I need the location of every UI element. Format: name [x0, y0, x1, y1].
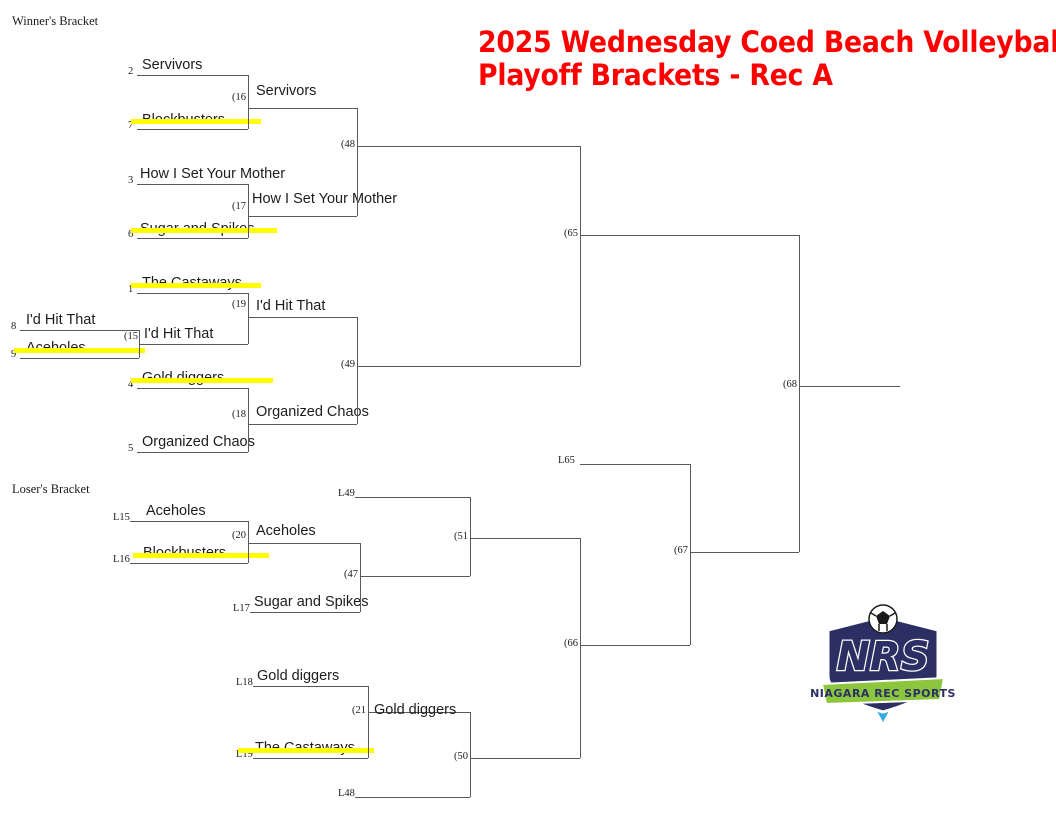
game-number-17: (17 — [214, 201, 246, 212]
highlight-the-castaways-r1 — [131, 283, 261, 288]
match-line-L18 — [253, 686, 368, 687]
connector-game-21 — [368, 686, 369, 758]
match-line-L16 — [130, 563, 248, 564]
connector-game-20 — [248, 521, 249, 563]
team-name-organized-chaos-r1: Organized Chaos — [142, 435, 255, 450]
feeder-code-L17: L17 — [233, 603, 250, 614]
match-line-seed-6 — [137, 238, 248, 239]
seed-number-5: 5 — [128, 443, 133, 454]
match-line-seed-2 — [137, 75, 248, 76]
connector-game-16 — [248, 75, 249, 129]
connector-game-67 — [690, 464, 691, 645]
team-name-id-hit-that-r1: I'd Hit That — [26, 313, 95, 328]
game-number-15: (15 — [106, 331, 138, 342]
advance-line-game-47 — [360, 576, 470, 577]
match-line-L15 — [130, 521, 248, 522]
feeder-code-L48: L48 — [338, 788, 355, 799]
game-number-48: (48 — [323, 139, 355, 150]
match-line-seed-3 — [137, 184, 248, 185]
advance-line-game-67 — [690, 552, 799, 553]
team-name-sugar-and-spikes-lb1: Sugar and Spikes — [254, 595, 368, 610]
feeder-code-L49: L49 — [338, 488, 355, 499]
logo-wordmark: NRS — [836, 634, 929, 680]
game-number-67: (67 — [656, 545, 688, 556]
feeder-code-L15: L15 — [113, 512, 130, 523]
game-number-21: (21 — [334, 705, 366, 716]
connector-game-51 — [470, 497, 471, 576]
advance-line-game-15 — [139, 344, 248, 345]
feeder-code-L16: L16 — [113, 554, 130, 565]
highlight-aceholes-r1 — [14, 348, 145, 353]
advance-line-game-51 — [470, 538, 580, 539]
losers-bracket-label: Loser's Bracket — [12, 482, 90, 497]
connector-game-66 — [580, 538, 581, 758]
match-line-seed-1 — [137, 293, 248, 294]
advance-line-game-16 — [248, 108, 357, 109]
nrs-logo-svg: NRS NIAGARA REC SPORTS — [808, 604, 958, 724]
match-line-L19 — [253, 758, 368, 759]
team-name-how-i-set-your-mother-r1: How I Set Your Mother — [140, 167, 285, 182]
game-number-18: (18 — [214, 409, 246, 420]
seed-number-3: 3 — [128, 175, 133, 186]
advance-line-game-20 — [248, 543, 360, 544]
connector-game-18 — [248, 388, 249, 452]
game-number-47: (47 — [326, 569, 358, 580]
match-line-seed-7 — [137, 129, 248, 130]
highlight-sugar-and-spikes-r1 — [131, 228, 277, 233]
team-name-aceholes-lb1: Aceholes — [146, 504, 206, 519]
connector-game-17 — [248, 184, 249, 238]
connector-game-19 — [248, 293, 249, 344]
highlight-gold-diggers-r1 — [131, 378, 273, 383]
champion-line-game-68 — [799, 386, 900, 387]
game-number-16: (16 — [214, 92, 246, 103]
advance-line-game-18 — [248, 424, 357, 425]
connector-game-49 — [357, 317, 358, 424]
feeder-code-L65: L65 — [558, 455, 575, 466]
nrs-logo: NRS NIAGARA REC SPORTS — [808, 604, 958, 724]
advance-line-game-17 — [248, 216, 357, 217]
game-number-68: (68 — [765, 379, 797, 390]
match-line-L48 — [355, 797, 470, 798]
game-number-19: (19 — [214, 299, 246, 310]
advance-line-game-50 — [470, 758, 580, 759]
match-line-seed-5 — [137, 452, 248, 453]
game-number-66: (66 — [546, 638, 578, 649]
game-number-65: (65 — [546, 228, 578, 239]
match-line-seed-9 — [20, 358, 139, 359]
match-line-L65 — [580, 464, 690, 465]
advance-line-game-19 — [248, 317, 357, 318]
team-name-id-hit-that-r2: I'd Hit That — [144, 327, 213, 342]
advance-line-game-48 — [357, 146, 580, 147]
match-line-L17 — [250, 612, 360, 613]
team-name-how-i-set-your-mother-r2: How I Set Your Mother — [252, 192, 397, 207]
feeder-code-L18: L18 — [236, 677, 253, 688]
advance-line-game-65 — [580, 235, 799, 236]
seed-number-2: 2 — [128, 66, 133, 77]
team-name-id-hit-that-r3: I'd Hit That — [256, 299, 325, 314]
logo-tagline: NIAGARA REC SPORTS — [810, 687, 956, 700]
bracket-page: 2025 Wednesday Coed Beach Volleyball Pla… — [0, 0, 1056, 816]
connector-game-68 — [799, 235, 800, 552]
team-name-gold-diggers-lb2: Gold diggers — [374, 703, 456, 718]
connector-game-50 — [470, 712, 471, 797]
game-number-50: (50 — [436, 751, 468, 762]
game-number-51: (51 — [436, 531, 468, 542]
game-number-49: (49 — [323, 359, 355, 370]
team-name-servivors-r1: Servivors — [142, 58, 202, 73]
winners-bracket-label: Winner's Bracket — [12, 14, 98, 29]
team-name-aceholes-lb2: Aceholes — [256, 524, 316, 539]
highlight-blockbusters-r1 — [131, 119, 261, 124]
connector-game-48 — [357, 108, 358, 216]
connector-game-65 — [580, 146, 581, 366]
page-title: 2025 Wednesday Coed Beach Volleyball Pla… — [478, 26, 1056, 92]
match-line-L49 — [355, 497, 470, 498]
team-name-servivors-r2: Servivors — [256, 84, 316, 99]
advance-line-game-66 — [580, 645, 690, 646]
team-name-gold-diggers-lb1: Gold diggers — [257, 669, 339, 684]
game-number-20: (20 — [214, 530, 246, 541]
seed-number-8: 8 — [11, 321, 16, 332]
advance-line-game-49 — [357, 366, 580, 367]
title-line-2: Playoff Brackets - Rec A — [478, 59, 1056, 92]
title-line-1: 2025 Wednesday Coed Beach Volleyball — [478, 26, 1056, 59]
team-name-organized-chaos-r2: Organized Chaos — [256, 405, 369, 420]
highlight-the-castaways-lb1 — [238, 748, 374, 753]
match-line-seed-4 — [137, 388, 248, 389]
connector-game-47 — [360, 543, 361, 612]
